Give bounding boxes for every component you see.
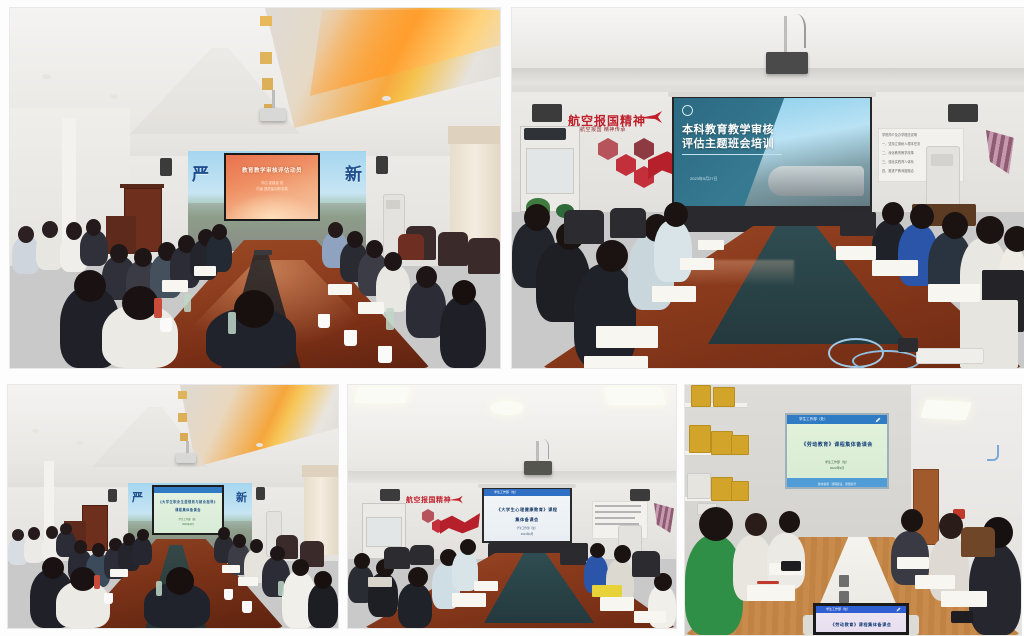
attendee-head: [779, 511, 800, 533]
paper-cup: [160, 318, 172, 332]
notebook: [634, 611, 666, 623]
downlight: [110, 94, 118, 99]
notebook: [600, 597, 634, 611]
attendee-head: [347, 231, 363, 248]
award-plaque: [687, 473, 711, 499]
attendee-head: [134, 248, 152, 267]
wall-speaker: [376, 156, 388, 174]
pencil-icon: [875, 417, 881, 423]
wall-speaker: [108, 489, 117, 502]
laptop-screen: 学生工作部（处） 《劳动教育》课程集体备课会: [813, 603, 909, 635]
attendee-head: [110, 244, 128, 263]
chair: [410, 545, 434, 565]
attendee-head: [596, 240, 628, 272]
screen-roller: [668, 92, 876, 97]
chair: [961, 527, 995, 557]
award-plaque: [731, 435, 749, 455]
notebook: [596, 326, 658, 348]
attendee-head: [910, 204, 934, 229]
slide-date: 2023年9月27日: [690, 176, 718, 182]
slide-subtitle-1: 评估 促建设 强: [235, 181, 309, 185]
chair: [632, 551, 660, 577]
notebook: [592, 585, 622, 597]
notebook: [238, 577, 258, 586]
attendee: [574, 264, 636, 368]
award-plaque: [713, 387, 735, 407]
award-plaque: [689, 425, 711, 453]
attendee-head: [614, 545, 631, 563]
attendee-head: [270, 546, 285, 561]
ceiling-light-panel: [354, 387, 411, 403]
slide-title: 教育教学审核评估动员: [232, 168, 313, 175]
attendee-head: [699, 507, 733, 541]
attendee-head: [250, 539, 263, 553]
aviation-slogan: 航空报国精神: [406, 495, 451, 505]
slide-subtitle: 学生工作部（处）: [161, 518, 215, 521]
attendee-head: [901, 509, 923, 532]
attendee-head: [452, 280, 476, 305]
cabinet-glass: [366, 517, 402, 547]
ceiling-slat: [180, 433, 188, 441]
curtain-valance: [302, 465, 338, 477]
wall-text-line: [595, 517, 635, 519]
attendee-head: [366, 240, 383, 258]
notebook: [328, 284, 352, 295]
attendee-head: [122, 286, 158, 320]
wall-text-line: [595, 511, 641, 513]
aviation-subslogan: 航空报国 精神传承: [580, 126, 626, 133]
attendee-head: [166, 567, 194, 595]
ceiling-slat: [178, 413, 187, 422]
airplane-icon: [448, 495, 464, 504]
projector-screen: 本科教育教学审核 评估主题班会培训 2023年9月27日: [672, 96, 872, 216]
slide-header-bar: [154, 487, 222, 493]
attendee-head: [328, 222, 343, 238]
downlight: [32, 429, 39, 433]
photo-top-right[interactable]: 航空报国精神 航空报国 精神传承 学院简介及办学理念说明 一、坚持立德树人根本任…: [512, 8, 1024, 368]
power-adapter: [898, 338, 918, 352]
chair: [564, 210, 604, 244]
notebook: [915, 575, 955, 589]
wall-speaker: [948, 104, 978, 122]
attendee-head: [212, 224, 227, 240]
ceiling-slat: [260, 16, 272, 26]
laptop-slide-header-text: 学生工作部（处）: [826, 607, 850, 611]
photo-bottom-right[interactable]: 学生工作部（处） 《劳动教育》课程集体备课会 学生工作部（处） 2023年9月 …: [685, 385, 1021, 635]
water-bottle: [386, 308, 394, 330]
slide-title-line2: 评估主题班会培训: [682, 138, 774, 152]
meeting-room-scene-5: 学生工作部（处） 《劳动教育》课程集体备课会 学生工作部（处） 2023年9月 …: [685, 385, 1021, 635]
projector: [766, 52, 808, 74]
airplane-icon: [638, 110, 664, 124]
wall-text-line: 四、推进产教深度融合: [882, 168, 914, 173]
attendee-head: [218, 527, 230, 540]
award-plaque: [691, 385, 711, 407]
slide-title-line2: 集体备课会: [489, 517, 565, 522]
attendee-head: [460, 539, 476, 555]
attendee-head: [233, 534, 246, 548]
chair: [610, 208, 646, 238]
water-bottle: [94, 575, 100, 589]
attendee-head: [664, 202, 688, 227]
power-strip: [916, 348, 984, 364]
wall-text-line: 二、深化教育教学改革: [882, 150, 914, 155]
slide-header-text: 学生工作部（处）: [494, 490, 518, 494]
slide-header-text: 学生工作部（处）: [799, 417, 828, 422]
slide-subtitle: 学生工作部（处）: [797, 461, 877, 465]
paper-cup: [104, 593, 113, 604]
attendee: [132, 537, 152, 565]
equipment-box: [524, 128, 566, 140]
paper-cup: [224, 589, 233, 600]
slide-logo: [682, 105, 693, 116]
screen-roller: [478, 484, 576, 488]
mural-word-right: 新: [236, 489, 247, 505]
slide-date: 2023年9月: [161, 523, 215, 526]
attendee-head: [12, 529, 24, 541]
attendee-head: [42, 221, 58, 238]
notebook: [162, 280, 188, 292]
projector-screen: 学生工作部（处） 《劳动教育》课程集体备课会 学生工作部（处） 2023年9月 …: [785, 413, 889, 489]
attendee-head: [137, 529, 149, 541]
notebook: [872, 260, 918, 276]
wall-hook: [987, 445, 999, 461]
ac-vent: [931, 154, 953, 166]
slide-date: 2023年9月: [797, 467, 877, 471]
attendee-head: [92, 543, 105, 557]
notebook: [110, 569, 128, 577]
slide-date: 2023年9月: [493, 533, 562, 536]
ceiling-slat: [260, 52, 272, 64]
projector-screen: 学生工作部（处） 《大学生心理健康教育》课程 集体备课会 学生工作部（处） 20…: [482, 487, 572, 543]
attendee-head: [939, 513, 963, 539]
paper-cup: [344, 330, 357, 346]
attendee: [440, 296, 486, 368]
notebook: [584, 356, 648, 368]
notebook: [222, 565, 240, 573]
slide-underline: [682, 154, 782, 155]
attendee: [654, 220, 692, 282]
notebook: [836, 246, 876, 260]
notebook: [680, 258, 714, 270]
downlight: [350, 140, 359, 145]
attendee-head: [42, 557, 64, 579]
attendee-head: [745, 513, 767, 536]
wall-speaker: [532, 104, 562, 122]
attendee-head: [590, 543, 605, 558]
attendee-head: [882, 202, 904, 225]
water-bottle: [278, 581, 284, 596]
water-bottle: [228, 312, 236, 334]
wall-speaker: [160, 158, 172, 176]
door-frame: [120, 184, 164, 188]
ceiling-slat: [178, 391, 187, 399]
paper-cup: [242, 601, 252, 613]
notebook: [941, 591, 987, 607]
attendee-head: [976, 216, 1004, 244]
award-plaque: [731, 481, 749, 501]
attendee-head: [524, 204, 550, 231]
attendee-head: [408, 567, 428, 587]
chair: [384, 547, 410, 569]
projector-screen: 《大学生职业生涯规划与就业指导》 课程集体备课会 学生工作部（处） 2023年9…: [152, 485, 224, 535]
chair: [438, 232, 468, 266]
projector: [260, 108, 286, 121]
notebook: [747, 585, 795, 601]
attendee-head: [416, 266, 437, 288]
award-plaque: [711, 477, 733, 501]
laptop: [840, 212, 876, 236]
attendee-head: [74, 270, 106, 302]
projector: [524, 461, 552, 475]
slide-subtitle: 学生工作部（处）: [493, 527, 562, 530]
water-bottle: [154, 298, 162, 318]
wall-text-line: 一、坚持立德树人根本任务: [882, 141, 920, 146]
notebook: [897, 557, 929, 569]
projector: [176, 453, 196, 463]
ceiling-light-panel: [920, 400, 972, 420]
attendee-head: [1004, 226, 1024, 252]
slide-title-line2: 课程集体备课会: [158, 508, 218, 512]
photo-collage: 严 新 教育教学审核评估动员 评估 促建设 强 内涵 提质量创新发展: [0, 0, 1024, 636]
attendee-head: [70, 567, 96, 591]
phone: [951, 611, 973, 623]
slide-footer-text: 集体备课 · 课程建设 · 质量提升: [787, 482, 887, 486]
ceiling-light-panel: [604, 387, 666, 405]
attendee-head: [28, 527, 40, 540]
notebook: [358, 302, 384, 314]
network-cable: [852, 350, 920, 368]
downlight: [42, 74, 51, 79]
attendee-head: [292, 559, 309, 576]
paper-cup: [378, 346, 392, 363]
attendee-head: [74, 540, 87, 554]
award-plaque: [711, 431, 733, 455]
pencil-icon: [896, 607, 901, 612]
chair: [468, 238, 500, 274]
table-socket: [839, 591, 849, 603]
notebook: [698, 240, 724, 250]
phone: [781, 561, 801, 571]
laptop: [560, 549, 586, 565]
wall-speaker: [256, 487, 265, 500]
attendee: [308, 583, 338, 628]
notebook: [194, 266, 216, 276]
notebook: [452, 593, 486, 607]
attendee-head: [18, 226, 34, 243]
wall-text-line: [595, 505, 641, 507]
conference-room-scene-1: 严 新 教育教学审核评估动员 评估 促建设 强 内涵 提质量创新发展: [10, 8, 500, 368]
water-bottle: [156, 581, 162, 596]
wall-speaker: [380, 489, 400, 501]
conference-room-scene-2: 航空报国精神 航空报国 精神传承 学院简介及办学理念说明 一、坚持立德树人根本任…: [512, 8, 1024, 368]
attendee-head: [942, 212, 968, 239]
attendee-head: [66, 222, 82, 240]
conference-room-scene-3: 严 新 《大学生职业生涯规划与就业指导》 课程集体备课会 学生工作部（处） 20…: [8, 385, 338, 628]
mural-word-right: 新: [345, 160, 362, 185]
projector-screen: 教育教学审核评估动员 评估 促建设 强 内涵 提质量创新发展: [224, 153, 320, 221]
slide-title: 《劳动教育》课程集体备课会: [793, 442, 881, 448]
mural-word-left: 严: [192, 160, 209, 185]
attendee-head: [86, 219, 101, 236]
chair: [398, 234, 424, 260]
curtain-valance: [448, 126, 500, 144]
table-mic: [254, 250, 272, 255]
table-socket: [839, 575, 849, 587]
attendee-head: [384, 252, 402, 271]
slide-subtitle-2: 内涵 提质量创新发展: [235, 187, 309, 191]
notebook: [368, 577, 392, 587]
ceiling-slat: [262, 78, 273, 90]
wall-speaker: [630, 489, 650, 501]
photo-top-left[interactable]: 严 新 教育教学审核评估动员 评估 促建设 强 内涵 提质量创新发展: [10, 8, 500, 368]
attendee: [398, 583, 432, 628]
wall-text-line: 学院简介及办学理念说明: [882, 132, 917, 137]
slide-title-line1: 《大学生职业生涯规划与就业指导》: [158, 500, 218, 504]
photo-bottom-left[interactable]: 严 新 《大学生职业生涯规划与就业指导》 课程集体备课会 学生工作部（处） 20…: [8, 385, 338, 628]
mural-word-left: 严: [132, 489, 143, 505]
slide-title-line1: 本科教育教学审核: [682, 124, 774, 138]
attendee-head: [354, 553, 370, 569]
pen: [757, 581, 779, 584]
wall-text-line: 三、强化实践育人体系: [882, 159, 914, 164]
downlight: [256, 443, 263, 447]
paper-cup: [318, 314, 330, 328]
conference-room-scene-4: 航空报国精神 学生工作部（处） 《大学生心理健康教育》课程 集体备课会: [348, 385, 676, 628]
slide-aircraft: [768, 166, 864, 196]
projector-cable: [534, 439, 549, 459]
cabinet-glass: [526, 148, 574, 194]
notebook: [928, 284, 980, 302]
notebook: [474, 581, 498, 591]
projector-cable: [782, 14, 806, 48]
attendee-head: [60, 523, 72, 535]
laptop-slide-title: 《劳动教育》课程集体备课会: [821, 622, 900, 627]
water-bottle: [184, 294, 191, 312]
notebook: [652, 286, 696, 302]
downlight: [382, 96, 391, 101]
attendee-head: [234, 290, 274, 328]
ac-vent: [386, 200, 400, 209]
downlight: [76, 441, 83, 445]
ceiling-light-panel: [490, 401, 524, 415]
photo-bottom-middle[interactable]: 航空报国精神 学生工作部（处） 《大学生心理健康教育》课程 集体备课会: [348, 385, 676, 628]
attendee-head: [314, 571, 332, 589]
slide-title-line1: 《大学生心理健康教育》课程: [489, 507, 565, 512]
slide-glow: [226, 193, 318, 219]
slide-photo-wedge: [740, 98, 870, 216]
